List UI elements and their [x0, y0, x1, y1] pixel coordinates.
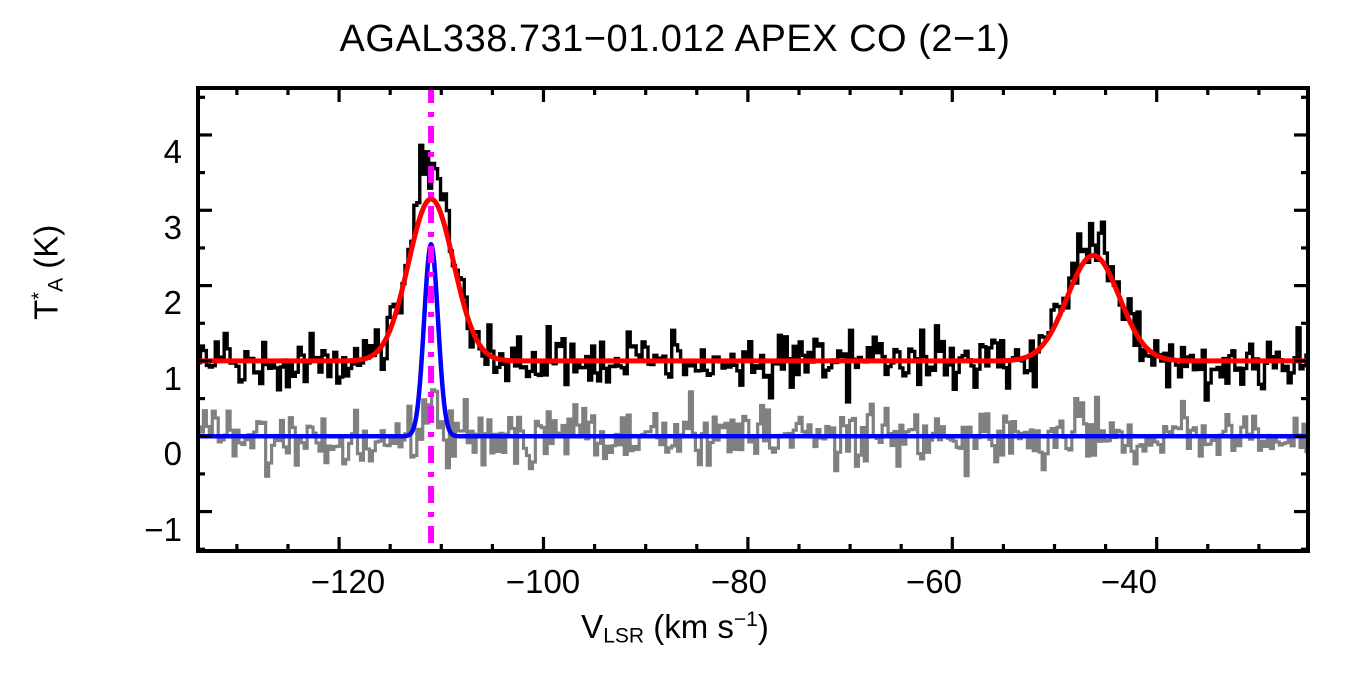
- y-tick-label-0: 0: [164, 435, 182, 473]
- x-tick-label-minus40: −40: [1069, 563, 1189, 601]
- y-axis-label-star: *: [29, 292, 51, 300]
- x-axis-label: VLSR (km s−1): [0, 608, 1350, 649]
- y-axis-label: T*A (K): [28, 162, 69, 382]
- y-axis-label-sub: A: [44, 278, 67, 292]
- x-axis-unit-pre: (km s: [644, 608, 734, 645]
- figure-canvas: AGAL338.731−01.012 APEX CO (2−1) T*A (K)…: [0, 0, 1350, 675]
- y-tick-label-minus1: −1: [144, 511, 182, 549]
- x-tick-label-minus80: −80: [679, 563, 799, 601]
- x-axis-label-sub: LSR: [603, 625, 644, 648]
- y-tick-label-2: 2: [164, 284, 182, 322]
- x-axis-label-main: V: [581, 608, 603, 645]
- y-tick-label-1: 1: [164, 360, 182, 398]
- x-axis-unit-post: ): [758, 608, 769, 645]
- y-tick-label-4: 4: [164, 133, 182, 171]
- figure-title: AGAL338.731−01.012 APEX CO (2−1): [0, 18, 1350, 61]
- y-axis-label-main: T: [28, 300, 65, 320]
- x-tick-label-minus120: −120: [278, 563, 418, 601]
- x-tick-label-minus60: −60: [874, 563, 994, 601]
- x-tick-label-minus100: −100: [473, 563, 613, 601]
- x-axis-unit-exponent: −1: [734, 608, 758, 631]
- plot-frame: [196, 86, 1310, 553]
- y-axis-label-unit: (K): [28, 225, 65, 278]
- plot-area: [196, 86, 1310, 553]
- y-tick-label-3: 3: [164, 209, 182, 247]
